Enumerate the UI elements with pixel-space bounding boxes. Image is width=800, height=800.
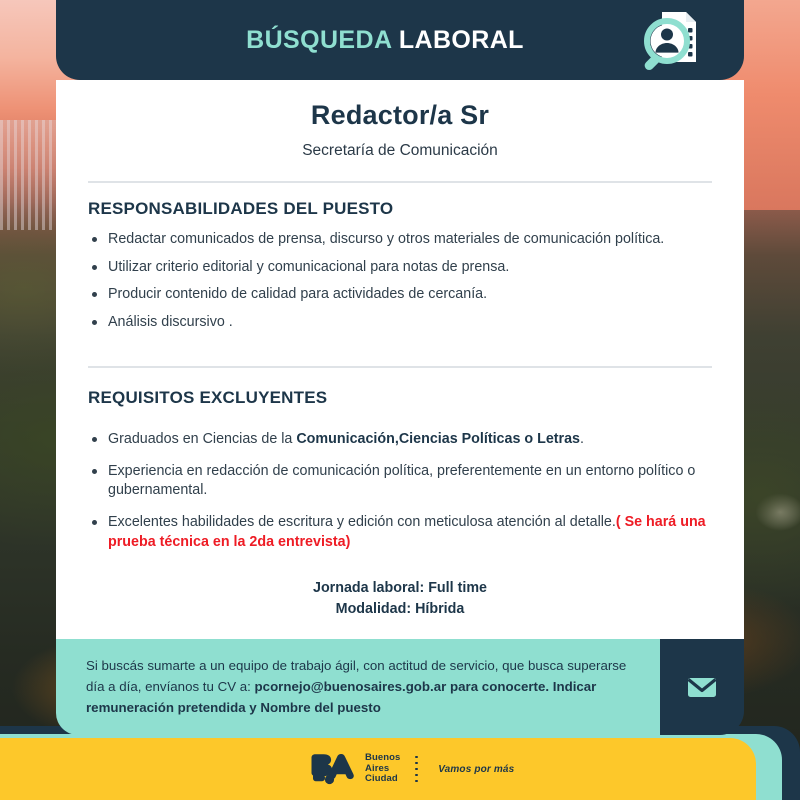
card-body: Redactor/a Sr Secretaría de Comunicación… (56, 80, 744, 639)
contact-strip: Si buscás sumarte a un equipo de trabajo… (56, 639, 744, 735)
ba-logo-mark (310, 754, 356, 785)
contact-text-mid: para conocerte. (446, 679, 552, 694)
job-posting-card: BÚSQUEDA LABORAL Redactor/a Sr Secretarí… (56, 0, 744, 735)
divider-mid (88, 366, 712, 368)
requirements-heading: REQUISITOS EXCLUYENTES (88, 388, 712, 408)
header-band: BÚSQUEDA LABORAL (56, 0, 744, 80)
envelope-icon (685, 670, 719, 704)
ba-logo-text: Buenos Aires Ciudad (365, 753, 400, 785)
job-department: Secretaría de Comunicación (56, 142, 744, 160)
list-item: Experiencia en redacción de comunicación… (88, 462, 712, 501)
responsibilities-list: Redactar comunicados de prensa, discurso… (88, 230, 712, 332)
logo-line-3: Ciudad (365, 774, 400, 785)
requirements-list: Graduados en Ciencias de la Comunicación… (88, 430, 712, 552)
contact-email[interactable]: pcornejo@buenosaires.gob.ar (255, 679, 447, 694)
list-item: Excelentes habilidades de escritura y ed… (88, 513, 712, 552)
section-requirements: REQUISITOS EXCLUYENTES Graduados en Cien… (56, 388, 744, 552)
list-item: Graduados en Ciencias de la Comunicación… (88, 430, 712, 450)
header-kicker-rest: LABORAL (399, 26, 524, 54)
ba-logo-lockup: Buenos Aires Ciudad Vamos por más (310, 753, 514, 785)
contact-text-box: Si buscás sumarte a un equipo de trabajo… (56, 639, 660, 735)
req1-post: . (580, 431, 584, 447)
responsibilities-heading: RESPONSABILIDADES DEL PUESTO (88, 199, 712, 219)
employment-terms: Jornada laboral: Full time Modalidad: Hí… (56, 578, 744, 639)
list-item: Redactar comunicados de prensa, discurso… (88, 230, 712, 250)
divider-top (88, 181, 712, 183)
footer-bar: Buenos Aires Ciudad Vamos por más (0, 738, 756, 800)
req3-pre: Excelentes habilidades de escritura y ed… (108, 514, 616, 530)
footer-tagline: Vamos por más (438, 764, 514, 775)
terms-schedule: Jornada laboral: Full time (56, 578, 744, 598)
header-kicker: BÚSQUEDA LABORAL (246, 26, 524, 55)
list-item: Utilizar criterio editorial y comunicaci… (88, 258, 712, 278)
logo-divider-dots (415, 756, 418, 783)
mail-icon-box (660, 639, 744, 735)
header-kicker-highlight: BÚSQUEDA (246, 26, 391, 54)
page-title: Redactor/a Sr (56, 100, 744, 131)
section-responsibilities: RESPONSABILIDADES DEL PUESTO Redactar co… (56, 199, 744, 332)
list-item: Análisis discursivo . (88, 313, 712, 333)
terms-modality: Modalidad: Híbrida (56, 599, 744, 619)
cv-search-icon (638, 6, 710, 78)
req1-bold: Comunicación,Ciencias Políticas o Letras (296, 431, 580, 447)
req1-pre: Graduados en Ciencias de la (108, 431, 296, 447)
list-item: Producir contenido de calidad para activ… (88, 285, 712, 305)
